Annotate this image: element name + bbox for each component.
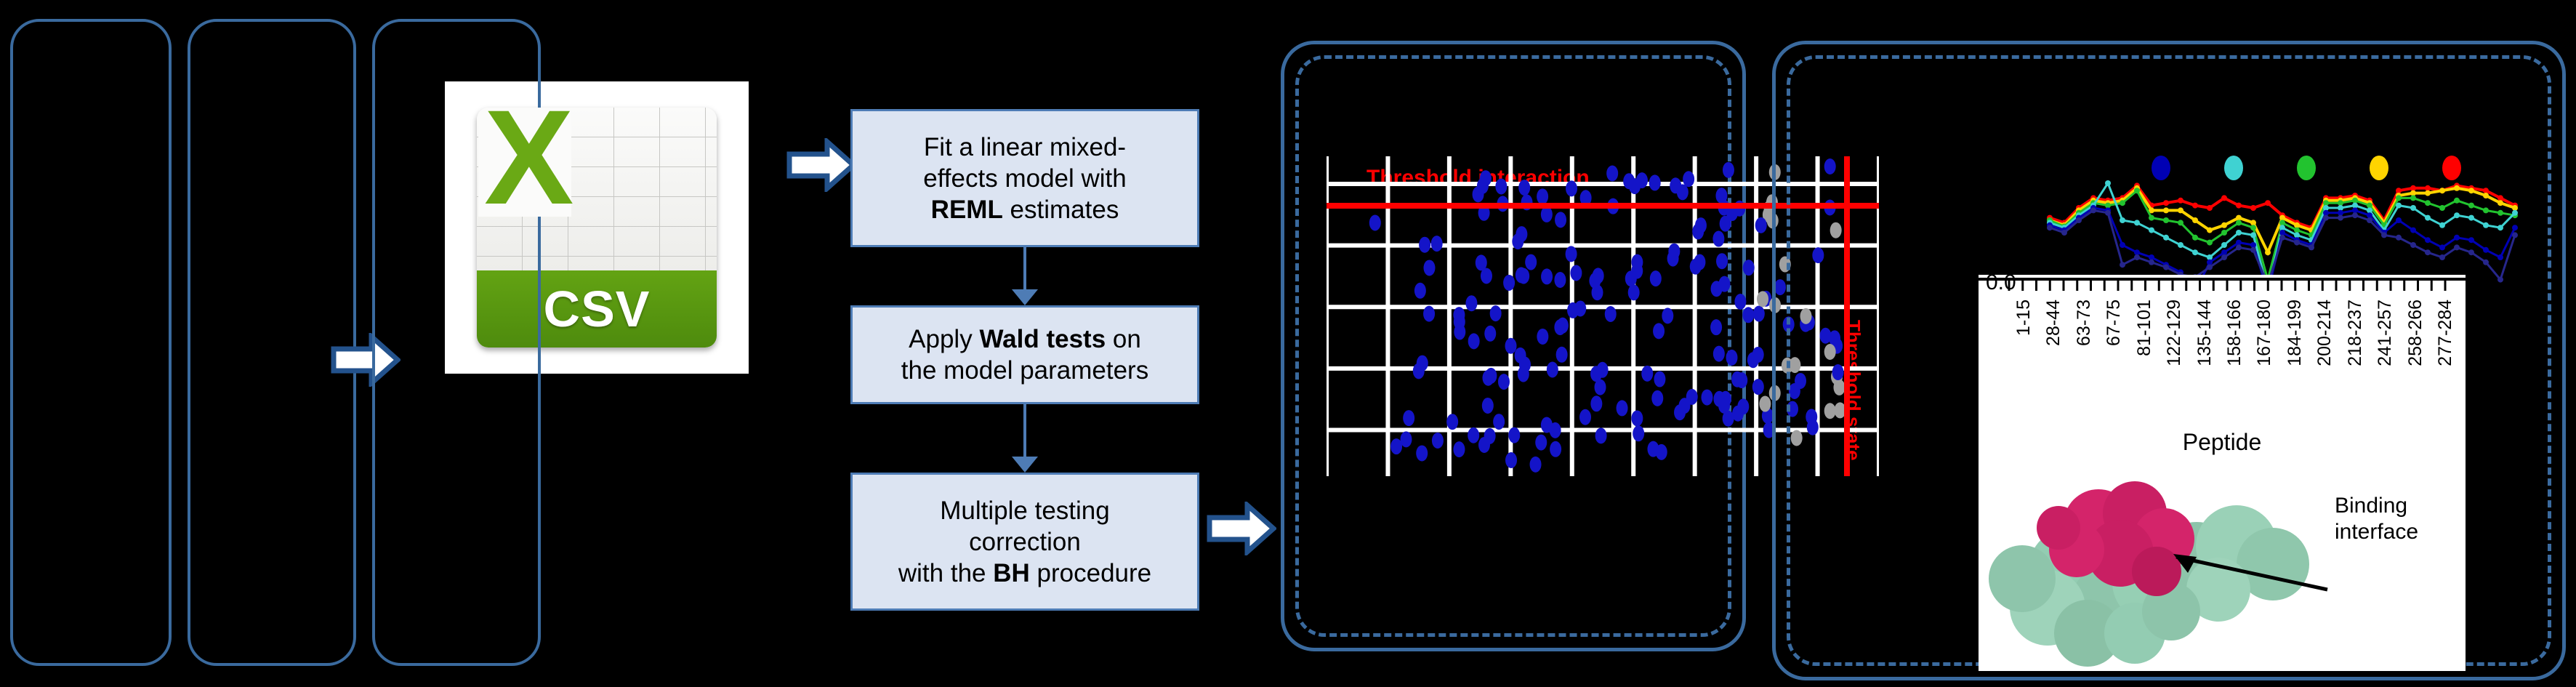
step-fit-model-line2: effects model with xyxy=(923,163,1127,194)
connector-wald-to-bh xyxy=(1023,404,1026,458)
wald-prefix: Apply xyxy=(909,325,979,353)
peptide-tick-67-75: 67-75 xyxy=(2104,300,2125,346)
arrow-csv-to-model xyxy=(786,138,856,192)
peptide-tick-28-44: 28-44 xyxy=(2043,300,2064,346)
step-bh-line2: correction xyxy=(969,526,1081,558)
peptide-tick-122-129: 122-129 xyxy=(2164,300,2185,366)
peptide-tick-135-144: 135-144 xyxy=(2194,300,2215,366)
protein-structure-image xyxy=(1979,455,2466,671)
connector-arrowhead-2 xyxy=(1012,457,1038,473)
peptide-tick-158-166: 158-166 xyxy=(2224,300,2245,366)
peptide-tick-184-199: 184-199 xyxy=(2285,300,2306,366)
peptide-tick-218-237: 218-237 xyxy=(2345,300,2366,366)
step-wald-line2: the model parameters xyxy=(901,355,1148,386)
step-wald-box: Apply Wald tests on the model parameters xyxy=(850,305,1199,404)
binding-interface-line2: interface xyxy=(2335,519,2418,545)
connector-arrowhead-1 xyxy=(1012,289,1038,305)
legend-dot-1 xyxy=(2152,156,2170,180)
figure-canvas: X CSV Fit a linear mixed- effects model … xyxy=(0,0,2576,687)
step-wald-line1: Apply Wald tests on xyxy=(909,324,1141,355)
bh-prefix: with the xyxy=(898,559,993,587)
reml-suffix: estimates xyxy=(1003,196,1119,224)
peptide-tick-241-257: 241-257 xyxy=(2375,300,2396,366)
peptide-tick-81-101: 81-101 xyxy=(2134,300,2155,356)
peptide-tick-167-180: 167-180 xyxy=(2254,300,2275,366)
wald-keyword: Wald tests xyxy=(979,325,1106,353)
legend-dot-4 xyxy=(2370,156,2388,180)
peptide-tick-258-266: 258-266 xyxy=(2405,300,2426,366)
peptide-tick-1-15: 1-15 xyxy=(2013,300,2034,336)
bh-keyword: BH xyxy=(993,559,1030,587)
arrow-model-to-scatter xyxy=(1207,502,1276,555)
connector-fit-to-wald xyxy=(1023,247,1026,291)
legend-dot-3 xyxy=(2297,156,2316,180)
reml-keyword: REML xyxy=(931,196,1003,224)
peptide-axis-label: Peptide xyxy=(1979,429,2466,456)
legend-dot-5 xyxy=(2442,156,2461,180)
legend-dot-2 xyxy=(2224,156,2243,180)
binding-interface-line1: Binding xyxy=(2335,493,2418,519)
peptide-tick-200-214: 200-214 xyxy=(2314,300,2335,366)
step-fit-model-box: Fit a linear mixed- effects model with R… xyxy=(850,109,1199,247)
step-bh-line3: with the BH procedure xyxy=(898,558,1151,589)
bh-suffix: procedure xyxy=(1030,559,1151,587)
binding-interface-label: Binding interface xyxy=(2335,493,2418,545)
peptide-tick-63-73: 63-73 xyxy=(2074,300,2095,346)
line-chart-legend xyxy=(2152,156,2457,180)
peptide-tick-277-284: 277-284 xyxy=(2435,300,2456,366)
excel-x-icon: X xyxy=(484,108,570,198)
step-fit-model-line1: Fit a linear mixed- xyxy=(924,132,1126,163)
data-panel xyxy=(10,19,172,666)
step-bh-line1: Multiple testing xyxy=(940,495,1109,526)
results-white-card: 0.0 1-1528-4463-7367-7581-101122-129135-… xyxy=(1979,275,2466,671)
csv-extension-label: CSV xyxy=(544,280,651,338)
step-fit-model-line3: REML estimates xyxy=(931,194,1119,225)
step-bh-box: Multiple testing correction with the BH … xyxy=(850,473,1199,611)
wald-suffix: on xyxy=(1106,325,1141,353)
